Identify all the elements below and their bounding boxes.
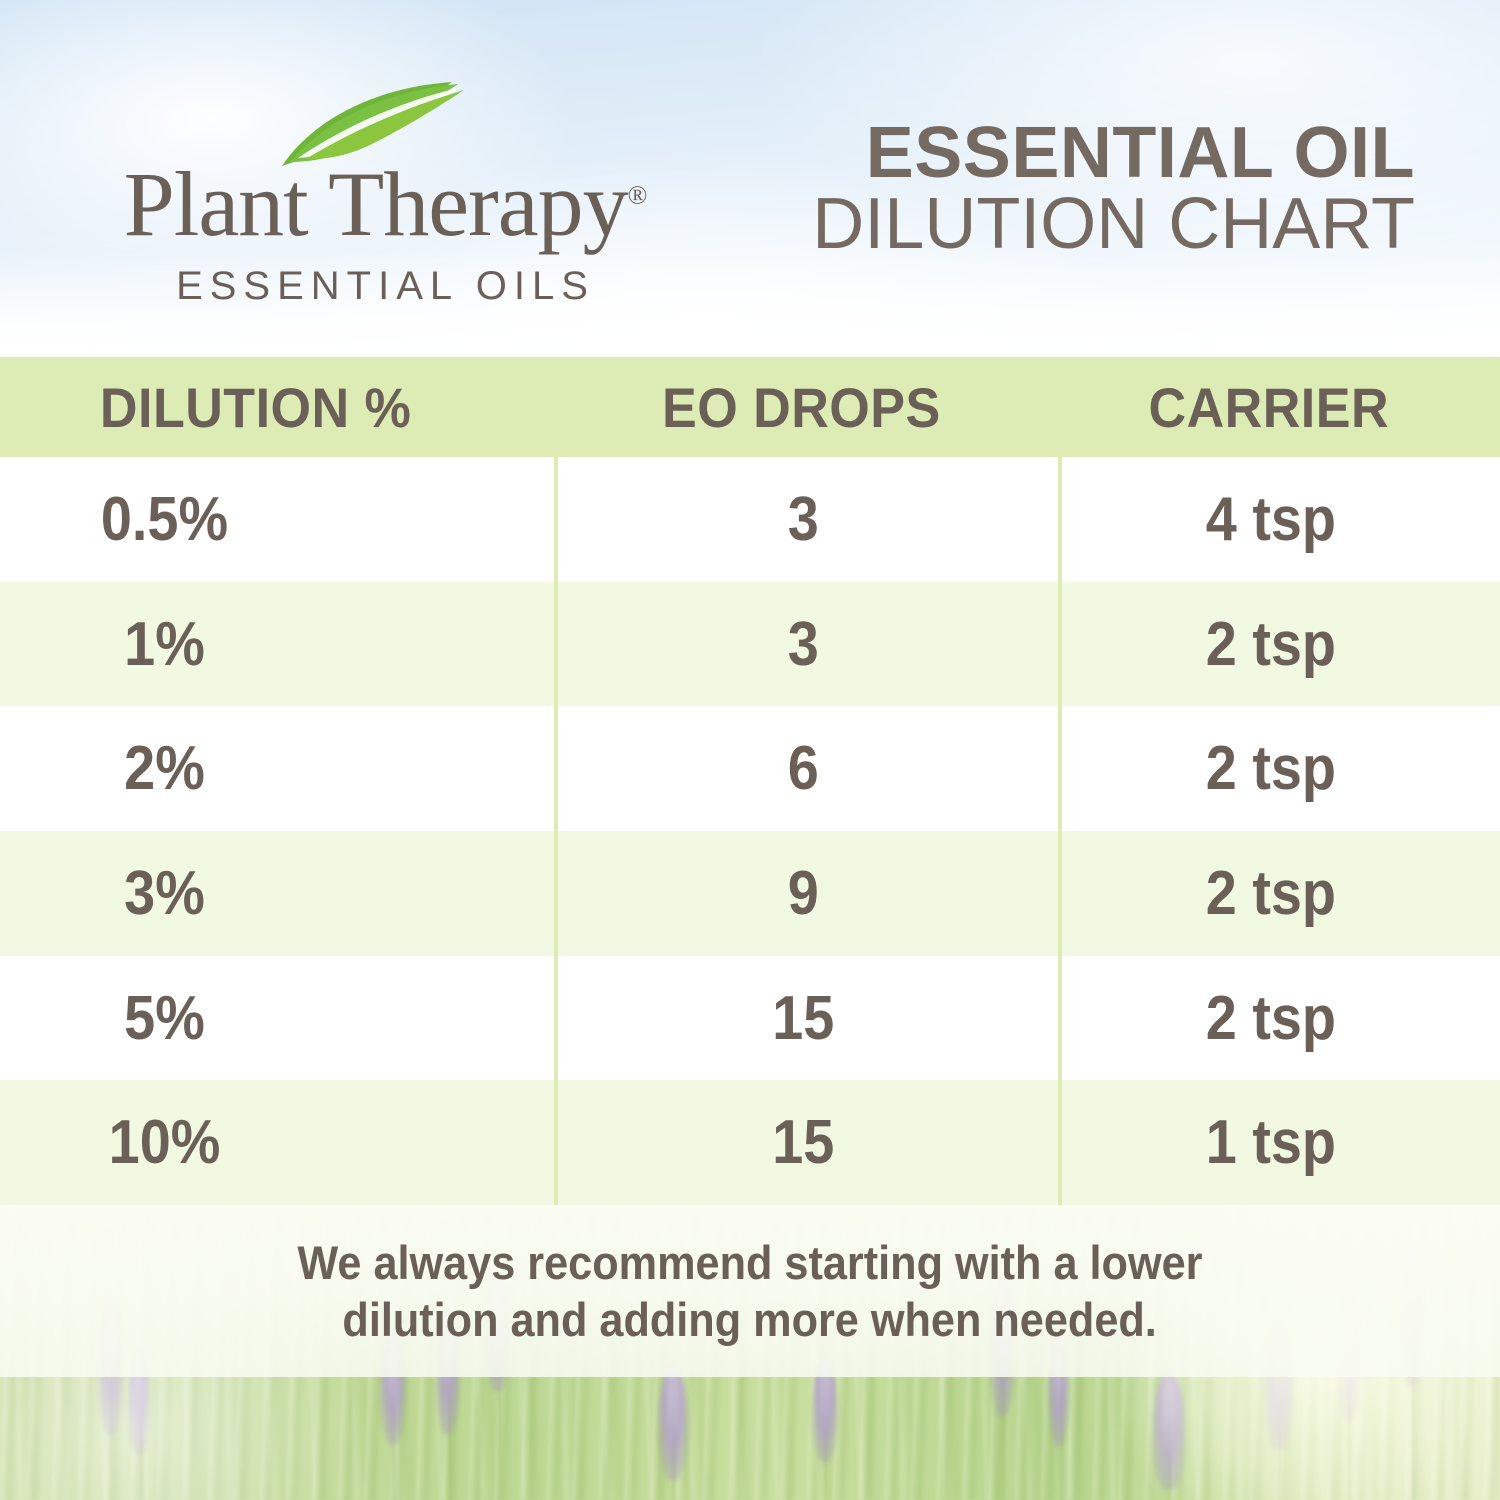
dilution-table: DILUTION % EO DROPS CARRIER 0.5% 3 4 tsp… — [0, 357, 1500, 1205]
table-row: 3% 9 2 tsp — [0, 831, 1500, 956]
column-divider — [554, 457, 558, 1205]
dilution-chart-page: Plant Therapy® ESSENTIAL OILS ESSENTIAL … — [0, 0, 1500, 1500]
table-row: 1% 3 2 tsp — [0, 582, 1500, 707]
page-title: ESSENTIAL OIL DILUTION CHART — [735, 118, 1415, 261]
cell-dilution: 2% — [0, 733, 554, 804]
table-row: 0.5% 3 4 tsp — [0, 457, 1500, 582]
cell-dilution: 5% — [0, 983, 554, 1054]
brand-tagline: ESSENTIAL OILS — [98, 264, 673, 309]
column-header-carrier: CARRIER — [1058, 375, 1500, 440]
table-row: 2% 6 2 tsp — [0, 706, 1500, 831]
page-title-line1: ESSENTIAL OIL — [735, 118, 1415, 189]
table-header-row: DILUTION % EO DROPS CARRIER — [0, 357, 1500, 457]
cell-eo-drops: 3 — [554, 484, 1058, 555]
cell-carrier: 4 tsp — [1058, 484, 1500, 555]
table-row: 10% 15 1 tsp — [0, 1080, 1500, 1205]
table-row: 5% 15 2 tsp — [0, 956, 1500, 1081]
cell-dilution: 0.5% — [0, 484, 554, 555]
cell-eo-drops: 9 — [554, 858, 1058, 929]
cell-carrier: 2 tsp — [1058, 609, 1500, 680]
brand-wordmark: Plant Therapy® — [98, 158, 673, 250]
cell-carrier: 2 tsp — [1058, 733, 1500, 804]
column-header-dilution: DILUTION % — [0, 375, 554, 440]
cell-eo-drops: 6 — [554, 733, 1058, 804]
note-line-1: We always recommend starting with a lowe… — [297, 1234, 1202, 1291]
column-divider — [1058, 457, 1062, 1205]
note-line-2: dilution and adding more when needed. — [343, 1291, 1157, 1348]
column-header-eo-drops: EO DROPS — [554, 375, 1058, 440]
cell-carrier: 2 tsp — [1058, 858, 1500, 929]
cell-dilution: 3% — [0, 858, 554, 929]
cell-dilution: 10% — [0, 1107, 554, 1178]
cell-dilution: 1% — [0, 609, 554, 680]
cell-carrier: 2 tsp — [1058, 983, 1500, 1054]
page-title-line2: DILUTION CHART — [735, 189, 1415, 260]
cell-eo-drops: 15 — [554, 983, 1058, 1054]
registered-mark-icon: ® — [628, 180, 648, 209]
cell-eo-drops: 3 — [554, 609, 1058, 680]
recommendation-note: We always recommend starting with a lowe… — [0, 1205, 1500, 1377]
cell-eo-drops: 15 — [554, 1107, 1058, 1178]
brand-name: Plant Therapy — [124, 153, 628, 255]
brand-logo: Plant Therapy® ESSENTIAL OILS — [98, 78, 673, 283]
cell-carrier: 1 tsp — [1058, 1107, 1500, 1178]
